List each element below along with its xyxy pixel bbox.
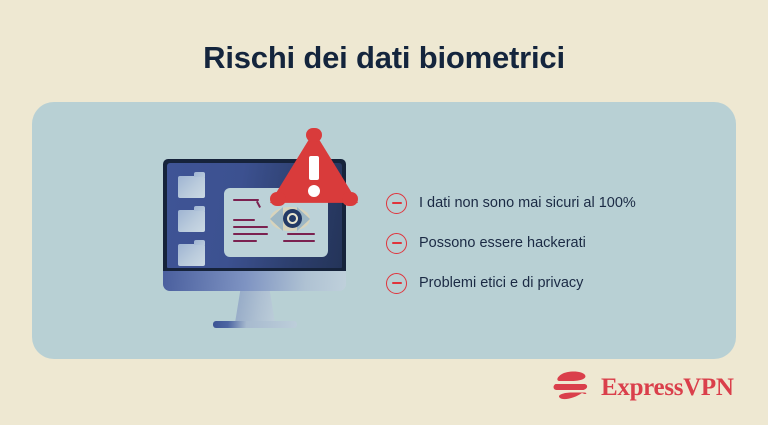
brand-logo: ExpressVPN (552, 370, 734, 404)
document-text-line (233, 233, 268, 235)
list-item-label: I dati non sono mai sicuri al 100% (419, 194, 636, 213)
monitor-stand (235, 291, 275, 323)
folder-icon (178, 176, 205, 198)
folder-icon (178, 210, 205, 232)
eye-pupil (287, 213, 298, 224)
expressvpn-e-mark-icon (552, 370, 592, 404)
risk-illustration (131, 125, 391, 337)
monitor-base (213, 321, 297, 328)
triangle-corner (306, 128, 322, 142)
exclamation-bar (309, 156, 319, 180)
slide-canvas: Rischi dei dati biometrici (0, 0, 768, 425)
risk-list: I dati non sono mai sicuri al 100% Posso… (386, 190, 636, 296)
exclamation-dot (308, 185, 320, 197)
list-item: Possono essere hackerati (386, 230, 636, 256)
circle-minus-icon (386, 273, 407, 294)
folder-icon (178, 244, 205, 266)
circle-minus-icon (386, 193, 407, 214)
list-item: Problemi etici e di privacy (386, 270, 636, 296)
list-item: I dati non sono mai sicuri al 100% (386, 190, 636, 216)
page-title: Rischi dei dati biometrici (0, 39, 768, 77)
warning-triangle-icon (270, 128, 358, 206)
circle-minus-icon (386, 233, 407, 254)
content-panel: I dati non sono mai sicuri al 100% Posso… (32, 102, 736, 359)
list-item-label: Possono essere hackerati (419, 234, 586, 253)
document-text-line (233, 226, 268, 228)
document-text-line (283, 240, 315, 242)
document-text-line (233, 240, 257, 242)
triangle-corner (342, 192, 358, 206)
eye-scan-icon (270, 207, 310, 231)
triangle-corner (270, 192, 286, 206)
monitor-chin (163, 271, 346, 291)
document-text-line (287, 233, 315, 235)
document-text-line (233, 219, 255, 221)
brand-name: ExpressVPN (601, 375, 734, 400)
list-item-label: Problemi etici e di privacy (419, 274, 583, 293)
